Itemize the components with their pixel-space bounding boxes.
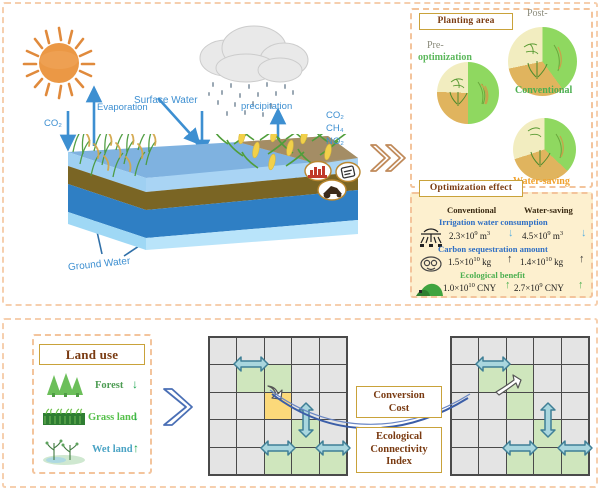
grid-cell[interactable] (320, 365, 346, 391)
section-irrigation: Irrigation water consumption (439, 217, 548, 227)
grid-cell[interactable] (507, 420, 533, 446)
value-carbon-conventional: 1.5×1010 kg (448, 256, 491, 267)
trend-irrigation-water-saving: ↓ (581, 227, 587, 239)
grid-cell[interactable] (507, 365, 533, 391)
grid-cell[interactable] (562, 448, 588, 474)
eci-line2: Connectivity (357, 444, 441, 457)
grid-cell[interactable] (534, 393, 560, 419)
label-precipitation: precipitation (241, 101, 292, 112)
grid-cell[interactable] (507, 338, 533, 364)
grid-cell[interactable] (210, 393, 236, 419)
wetland-icon (42, 437, 86, 465)
label-gas-ch4: CH₄ (326, 123, 344, 134)
grid-cell[interactable] (452, 420, 478, 446)
chevron-right-top-icon (368, 141, 408, 175)
grid-cell[interactable] (210, 338, 236, 364)
grid-cell[interactable] (507, 448, 533, 474)
grass-icon (43, 408, 85, 426)
label-surface-water: Surface Water (134, 95, 198, 106)
cloud-carbon-icon (419, 255, 443, 273)
grid-cell[interactable] (562, 393, 588, 419)
trend-benefit-water-saving: ↑ (578, 279, 584, 291)
pre-optimization-label-line1: Pre- (427, 40, 444, 51)
grid-cell[interactable] (534, 365, 560, 391)
field-block (28, 134, 358, 279)
grid-cell[interactable] (237, 338, 263, 364)
trend-benefit-conventional: ↑ (505, 279, 511, 291)
label-co2: CO₂ (44, 118, 62, 129)
land-use-label-grass: Grass land (88, 412, 137, 423)
conversion-cost-line2: Cost (357, 403, 441, 416)
section-ecological-benefit: Ecological benefit (460, 270, 525, 280)
land-use-title: Land use (39, 344, 145, 365)
col-header-conventional: Conventional (447, 205, 496, 215)
grid-cell[interactable] (479, 448, 505, 474)
land-use-grid-right (450, 336, 590, 476)
ecological-connectivity-index-label: Ecological Connectivity Index (356, 427, 442, 473)
grid-cell[interactable] (292, 393, 318, 419)
grid-cell[interactable] (320, 338, 346, 364)
grid-cell[interactable] (534, 420, 560, 446)
value-irrigation-conventional: 2.3×109 m3 (449, 230, 490, 241)
section-carbon: Carbon sequestration amount (438, 244, 548, 254)
conversion-cost-label: Conversion Cost (356, 386, 442, 418)
land-use-label-forest: Forest (95, 380, 123, 391)
grid-cell[interactable] (562, 338, 588, 364)
grid-cell[interactable] (237, 393, 263, 419)
grid-cell[interactable] (452, 338, 478, 364)
emission-source-icons (303, 158, 365, 206)
pie-chart-water-saving (513, 118, 576, 181)
land-use-label-wetland: Wet land (92, 444, 133, 455)
eci-line1: Ecological (357, 431, 441, 444)
forest-icon (44, 371, 84, 397)
grid-cell-source[interactable] (265, 393, 291, 419)
grid-cell[interactable] (479, 420, 505, 446)
grid-cell[interactable] (265, 338, 291, 364)
grid-cell[interactable] (320, 393, 346, 419)
document-icon (336, 163, 360, 182)
grid-cell[interactable] (237, 448, 263, 474)
agro-ecosystem-illustration: CO₂ Evaporation Surface Water precipitat… (6, 6, 404, 298)
label-gas-no2: NO₂ (326, 136, 344, 147)
grid-cell[interactable] (562, 365, 588, 391)
trend-carbon-conventional: ↑ (507, 253, 513, 265)
grid-cell[interactable] (237, 365, 263, 391)
value-irrigation-water-saving: 4.5×109 m3 (522, 230, 563, 241)
grid-cell[interactable] (210, 420, 236, 446)
pie-label-conventional: Conventional (515, 85, 572, 96)
land-use-grid-left (208, 336, 348, 476)
grid-cell[interactable] (452, 365, 478, 391)
grid-cell[interactable] (265, 365, 291, 391)
label-gas-co2: CO₂ (326, 110, 344, 121)
trend-carbon-water-saving: ↑ (579, 253, 585, 265)
land-use-trend-forest: ↓ (132, 377, 138, 392)
value-benefit-conventional: 1.0×1010 CNY (443, 282, 496, 293)
grid-cell[interactable] (292, 448, 318, 474)
grid-cell[interactable] (320, 420, 346, 446)
post-optimization-label: Post- (527, 8, 548, 19)
grid-cell[interactable] (479, 338, 505, 364)
grid-cell[interactable] (452, 393, 478, 419)
grid-cell[interactable] (210, 448, 236, 474)
eci-line3: Index (357, 456, 441, 469)
optimization-effect-box: Conventional Water-saving Irrigation wat… (410, 192, 593, 298)
conversion-cost-line1: Conversion (357, 390, 441, 403)
hill-icon (416, 280, 444, 297)
land-use-trend-wetland: ↑ (133, 441, 139, 456)
land-use-trend-grass: ↓ (133, 409, 139, 424)
grid-cell[interactable] (452, 448, 478, 474)
col-header-water-saving: Water-saving (524, 205, 573, 215)
grid-cell[interactable] (534, 448, 560, 474)
grid-cell[interactable] (479, 393, 505, 419)
trend-irrigation-conventional: ↓ (508, 227, 514, 239)
value-carbon-water-saving: 1.4×1010 kg (520, 256, 563, 267)
pie-chart-pre-optimization (437, 62, 499, 124)
chevron-right-bottom-icon (160, 385, 194, 429)
grid-cell[interactable] (562, 420, 588, 446)
grid-cell[interactable] (237, 420, 263, 446)
optimization-effect-title: Optimization effect (419, 180, 523, 197)
grid-cell[interactable] (534, 338, 560, 364)
planting-area-title: Planting area (419, 13, 513, 30)
grid-cell[interactable] (320, 448, 346, 474)
grid-cell[interactable] (292, 365, 318, 391)
grid-cell[interactable] (210, 365, 236, 391)
grid-cell-target[interactable] (507, 393, 533, 419)
grid-cell[interactable] (265, 420, 291, 446)
grid-cell[interactable] (265, 448, 291, 474)
grid-cell[interactable] (292, 420, 318, 446)
value-benefit-water-saving: 2.7×109 CNY (514, 282, 564, 293)
grid-cell[interactable] (292, 338, 318, 364)
grid-cell[interactable] (479, 365, 505, 391)
